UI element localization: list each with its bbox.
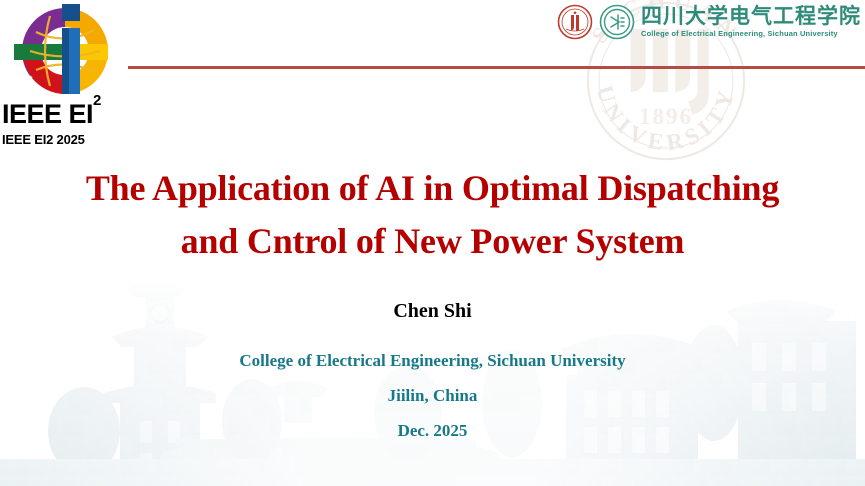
affiliation-institution: College of Electrical Engineering, Sichu… <box>0 343 865 378</box>
institution-logo-block: 四川大学电气工程学院 College of Electrical Enginee… <box>557 4 861 40</box>
affiliation-location: Jiilin, China <box>0 378 865 413</box>
title-slide: SICHUAN UNIVERSITY 1896 <box>0 0 865 486</box>
ieee-ei2-wordmark-superscript: 2 <box>93 92 101 109</box>
sichuan-university-seal-icon <box>557 4 593 40</box>
header-divider-rule <box>128 66 865 69</box>
ieee-ei2-wordmark-text: IEEE EI <box>2 99 93 129</box>
page-title-line-2: and Cntrol of New Power System <box>0 215 865 268</box>
presentation-date: Dec. 2025 <box>0 413 865 448</box>
page-title-line-1: The Application of AI in Optimal Dispatc… <box>0 162 865 215</box>
institution-name-cn: 四川大学电气工程学院 <box>641 6 861 27</box>
svg-text:UNIVERSITY: UNIVERSITY <box>591 83 741 157</box>
ieee-ei2-conference-logo: IEEE EI2 IEEE EI2 2025 <box>6 2 134 142</box>
college-of-electrical-engineering-seal-icon <box>599 4 635 40</box>
institution-name-block: 四川大学电气工程学院 College of Electrical Enginee… <box>641 6 861 38</box>
svg-text:1896: 1896 <box>639 104 693 130</box>
presenter-name: Chen Shi <box>0 301 865 321</box>
ieee-ei2-globe-icon <box>6 2 124 100</box>
presenter-affiliation-block: College of Electrical Engineering, Sichu… <box>0 343 865 448</box>
ieee-ei2-wordmark: IEEE EI2 <box>2 101 134 128</box>
page-title: The Application of AI in Optimal Dispatc… <box>0 162 865 268</box>
ieee-ei2-year-subtitle: IEEE EI2 2025 <box>2 132 134 147</box>
institution-name-en: College of Electrical Engineering, Sichu… <box>641 30 861 38</box>
